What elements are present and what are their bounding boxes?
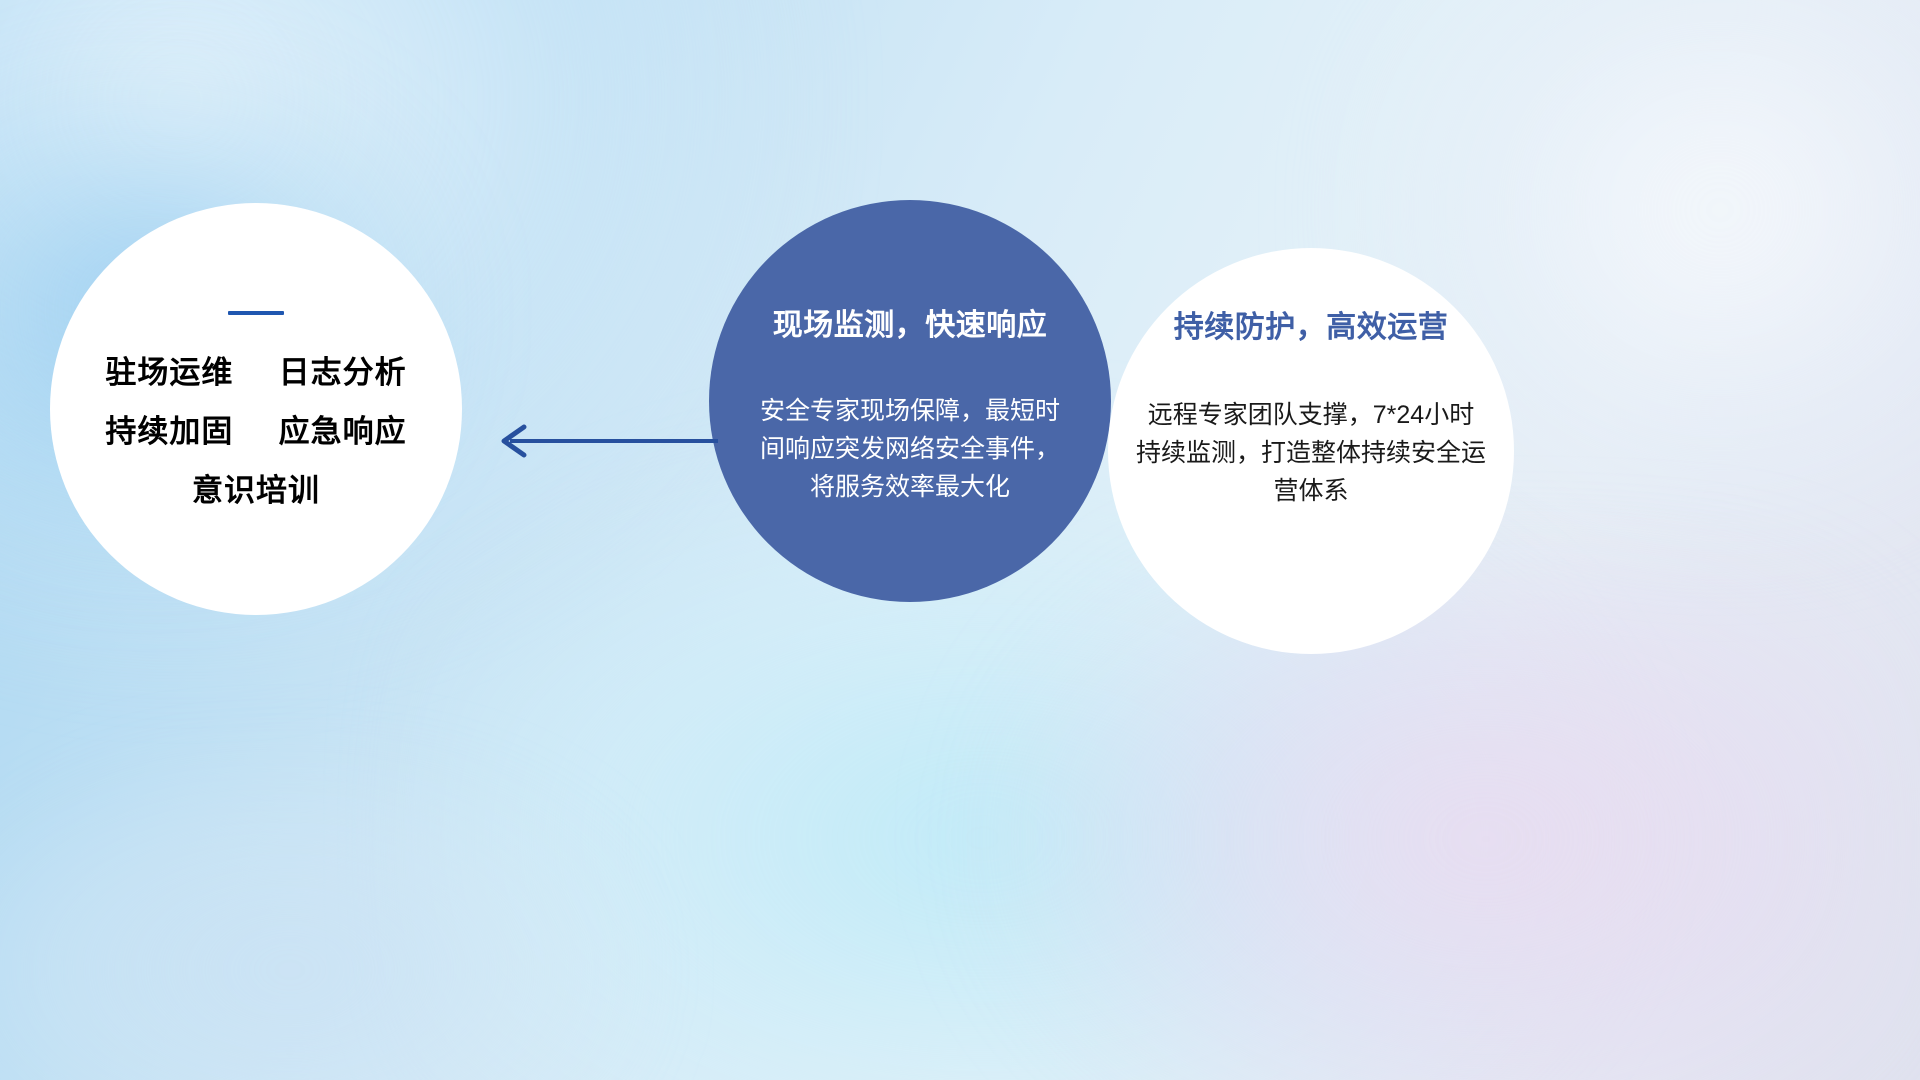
capability-label: 持续加固 <box>105 414 233 449</box>
middle-card-body: 安全专家现场保障，最短时间响应突发网络安全事件，将服务效率最大化 <box>755 392 1065 506</box>
right-card-body: 远程专家团队支撑，7*24小时持续监测，打造整体持续安全运营体系 <box>1136 396 1486 510</box>
right-card-title: 持续防护，高效运营 <box>1174 302 1449 346</box>
capability-label: 驻场运维 <box>105 355 233 390</box>
left-capability-card: 驻场运维 日志分析 持续加固 应急响应 意识培训 <box>50 203 462 615</box>
right-feature-card: 持续防护，高效运营 远程专家团队支撑，7*24小时持续监测，打造整体持续安全运营… <box>1108 248 1514 654</box>
arrow-pointing-left-icon <box>490 418 720 464</box>
accent-divider-line <box>228 311 284 315</box>
slide-canvas: 驻场运维 日志分析 持续加固 应急响应 意识培训 现场监测，快速响应 安全专家现… <box>0 0 1920 1080</box>
capability-row-1: 驻场运维 日志分析 <box>105 357 406 388</box>
middle-feature-card: 现场监测，快速响应 安全专家现场保障，最短时间响应突发网络安全事件，将服务效率最… <box>709 200 1111 602</box>
capability-label: 日志分析 <box>279 355 407 390</box>
capability-row-2: 持续加固 应急响应 <box>105 416 406 447</box>
background-glow-bottom-left <box>0 760 640 1080</box>
middle-card-title: 现场监测，快速响应 <box>773 300 1048 344</box>
capability-row-3: 意识培训 <box>192 475 320 506</box>
capability-label: 意识培训 <box>192 473 320 508</box>
capability-label: 应急响应 <box>279 414 407 449</box>
